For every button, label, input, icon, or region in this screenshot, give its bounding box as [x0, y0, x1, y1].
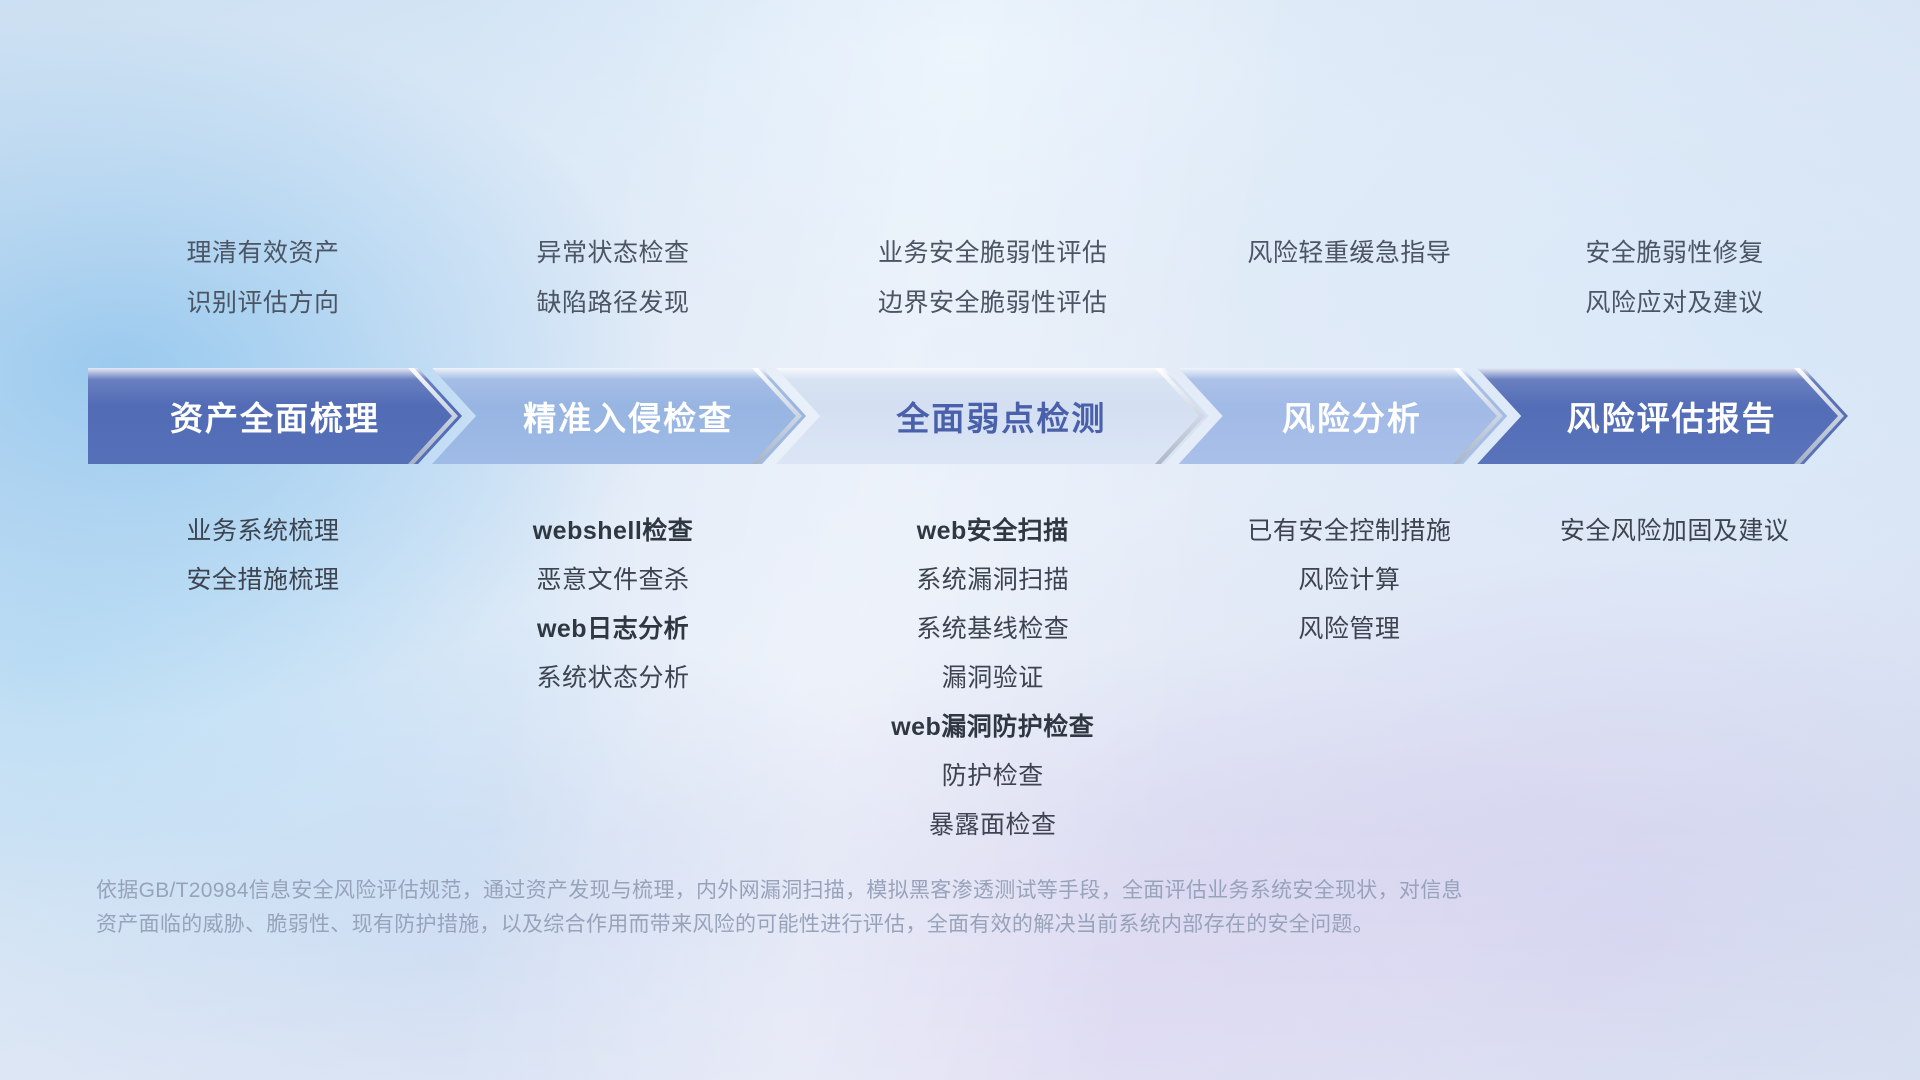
bottom-list-item: 风险计算	[1197, 556, 1501, 605]
bottom-list-item: 系统漏洞扫描	[788, 556, 1197, 605]
process-step-label: 精准入侵检查	[505, 392, 733, 440]
process-step-asset-inventory[interactable]: 资产全面梳理	[88, 368, 462, 464]
process-arrow-band: 资产全面梳理精准入侵检查全面弱点检测风险分析风险评估报告	[88, 368, 1848, 464]
bottom-list-item: web漏洞防护检查	[788, 703, 1197, 752]
top-caption-item: 风险轻重缓急指导	[1197, 228, 1501, 278]
top-caption-item: 业务安全脆弱性评估	[788, 228, 1197, 278]
top-caption-item: 风险应对及建议	[1501, 278, 1848, 328]
top-caption-item: 异常状态检查	[438, 228, 788, 278]
top-caption-group-risk-analysis: 风险轻重缓急指导	[1197, 228, 1501, 278]
bottom-list-item: web日志分析	[438, 605, 788, 654]
bottom-list-item: webshell检查	[438, 507, 788, 556]
top-caption-item: 边界安全脆弱性评估	[788, 278, 1197, 328]
bottom-list-weakness-detection: web安全扫描系统漏洞扫描系统基线检查漏洞验证web漏洞防护检查防护检查暴露面检…	[788, 507, 1197, 850]
process-step-intrusion-check[interactable]: 精准入侵检查	[432, 368, 806, 464]
footer-line-2: 资产面临的威胁、脆弱性、现有防护措施，以及综合作用而带来风险的可能性进行评估，全…	[96, 908, 1616, 942]
bottom-list-item: 系统基线检查	[788, 605, 1197, 654]
footer-description: 依据GB/T20984信息安全风险评估规范，通过资产发现与梳理，内外网漏洞扫描，…	[96, 874, 1616, 942]
bottom-list-item: 暴露面检查	[788, 801, 1197, 850]
top-caption-group-risk-report: 安全脆弱性修复风险应对及建议	[1501, 228, 1848, 328]
slide-stage: 理清有效资产识别评估方向异常状态检查缺陷路径发现业务安全脆弱性评估边界安全脆弱性…	[0, 0, 1920, 1080]
bottom-list-risk-analysis: 已有安全控制措施风险计算风险管理	[1197, 507, 1501, 654]
process-step-label: 全面弱点检测	[878, 392, 1106, 440]
process-step-weakness-detection[interactable]: 全面弱点检测	[776, 368, 1209, 464]
top-caption-group-intrusion-check: 异常状态检查缺陷路径发现	[438, 228, 788, 328]
bottom-list-item: web安全扫描	[788, 507, 1197, 556]
top-caption-group-asset-inventory: 理清有效资产识别评估方向	[88, 228, 438, 328]
process-step-label: 风险分析	[1264, 392, 1422, 440]
bottom-list-item: 防护检查	[788, 752, 1197, 801]
top-caption-item: 安全脆弱性修复	[1501, 228, 1848, 278]
bottom-list-item: 恶意文件查杀	[438, 556, 788, 605]
process-step-risk-report[interactable]: 风险评估报告	[1477, 368, 1848, 464]
bottom-list-risk-report: 安全风险加固及建议	[1501, 507, 1848, 556]
bottom-list-item: 安全措施梳理	[88, 556, 438, 605]
process-step-risk-analysis[interactable]: 风险分析	[1179, 368, 1508, 464]
process-step-label: 资产全面梳理	[170, 392, 380, 440]
bottom-list-asset-inventory: 业务系统梳理安全措施梳理	[88, 507, 438, 605]
bottom-list-item: 风险管理	[1197, 605, 1501, 654]
bottom-list-item: 安全风险加固及建议	[1501, 507, 1848, 556]
top-caption-item: 识别评估方向	[88, 278, 438, 328]
bottom-list-item: 漏洞验证	[788, 654, 1197, 703]
top-caption-group-weakness-detection: 业务安全脆弱性评估边界安全脆弱性评估	[788, 228, 1197, 328]
bottom-list-item: 已有安全控制措施	[1197, 507, 1501, 556]
bottom-list-intrusion-check: webshell检查恶意文件查杀web日志分析系统状态分析	[438, 507, 788, 703]
top-caption-item: 缺陷路径发现	[438, 278, 788, 328]
bottom-list-item: 业务系统梳理	[88, 507, 438, 556]
footer-line-1: 依据GB/T20984信息安全风险评估规范，通过资产发现与梳理，内外网漏洞扫描，…	[96, 874, 1616, 908]
bottom-list-item: 系统状态分析	[438, 654, 788, 703]
process-step-label: 风险评估报告	[1549, 392, 1777, 440]
top-caption-item: 理清有效资产	[88, 228, 438, 278]
